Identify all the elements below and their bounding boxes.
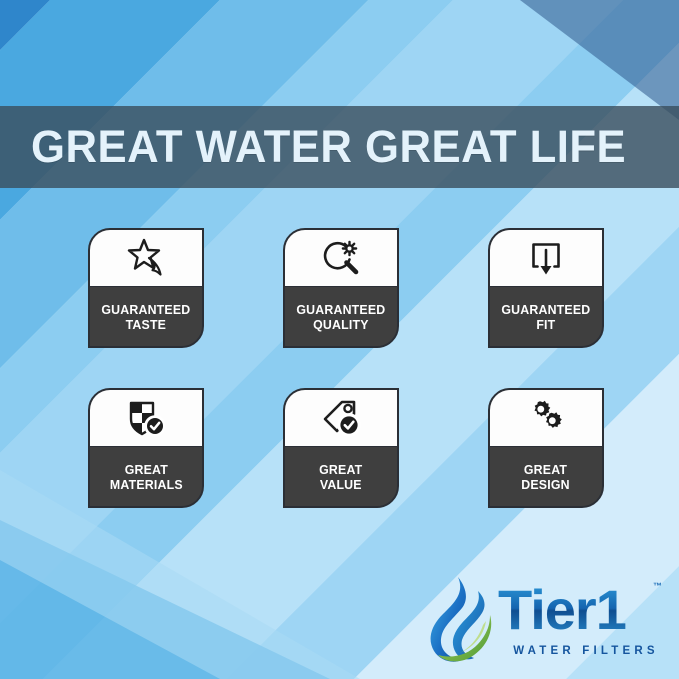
card-icon-area <box>285 390 397 447</box>
card-label-line1: GUARANTEED <box>101 302 190 317</box>
card-label: GREAT DESIGN <box>522 462 570 492</box>
brand-wordmark: Tier1 <box>498 579 668 645</box>
feature-card-great-design[interactable]: GREAT DESIGN <box>488 388 604 508</box>
card-label-line2: FIT <box>536 317 555 332</box>
feature-card-guaranteed-quality[interactable]: GUARANTEED QUALITY <box>283 228 399 348</box>
card-icon-area <box>490 390 602 447</box>
card-label-line1: GREAT <box>319 462 362 477</box>
poster-canvas: GREAT WATER GREAT LIFE GUARANTEED TASTE <box>0 0 679 679</box>
headline-banner: GREAT WATER GREAT LIFE <box>0 106 679 188</box>
card-icon-area <box>490 230 602 287</box>
card-label: GUARANTEED TASTE <box>101 302 190 332</box>
card-icon-area <box>285 230 397 287</box>
shield-check-icon <box>123 397 169 439</box>
card-label-area: GUARANTEED TASTE <box>90 287 202 346</box>
feature-card-great-materials[interactable]: GREAT MATERIALS <box>88 388 204 508</box>
magnifier-gear-icon <box>319 237 363 279</box>
card-label: GUARANTEED QUALITY <box>296 302 385 332</box>
price-tag-check-icon <box>318 397 364 439</box>
card-label-area: GREAT DESIGN <box>490 447 602 506</box>
water-drop-leaf-icon <box>424 575 502 667</box>
gears-icon <box>523 397 569 439</box>
card-label-line1: GREAT <box>124 462 167 477</box>
feature-card-great-value[interactable]: GREAT VALUE <box>283 388 399 508</box>
brand-logo: Tier1 ™ WATER FILTERS <box>424 575 664 671</box>
card-label-area: GREAT MATERIALS <box>90 447 202 506</box>
card-label-line2: MATERIALS <box>110 477 183 492</box>
card-label-area: GUARANTEED FIT <box>490 287 602 346</box>
trademark-symbol: ™ <box>653 581 662 591</box>
card-label-line2: DESIGN <box>522 477 570 492</box>
card-label-line2: QUALITY <box>313 317 369 332</box>
card-label-line2: VALUE <box>320 477 362 492</box>
card-label: GUARANTEED FIT <box>501 302 590 332</box>
card-label: GREAT VALUE <box>319 462 362 492</box>
card-icon-area <box>90 230 202 287</box>
brand-tagline: WATER FILTERS <box>506 645 666 657</box>
card-label-line1: GUARANTEED <box>296 302 385 317</box>
insert-arrow-icon <box>525 237 567 279</box>
card-icon-area <box>90 390 202 447</box>
card-label-area: GREAT VALUE <box>285 447 397 506</box>
card-label-line1: GUARANTEED <box>501 302 590 317</box>
feature-card-guaranteed-fit[interactable]: GUARANTEED FIT <box>488 228 604 348</box>
card-label-line1: GREAT <box>524 462 567 477</box>
headline-text: GREAT WATER GREAT LIFE <box>0 121 626 173</box>
card-label: GREAT MATERIALS <box>110 462 183 492</box>
shooting-star-icon <box>124 237 168 279</box>
card-label-line2: TASTE <box>126 317 167 332</box>
card-label-area: GUARANTEED QUALITY <box>285 287 397 346</box>
svg-text:Tier1: Tier1 <box>498 579 626 641</box>
feature-card-guaranteed-taste[interactable]: GUARANTEED TASTE <box>88 228 204 348</box>
